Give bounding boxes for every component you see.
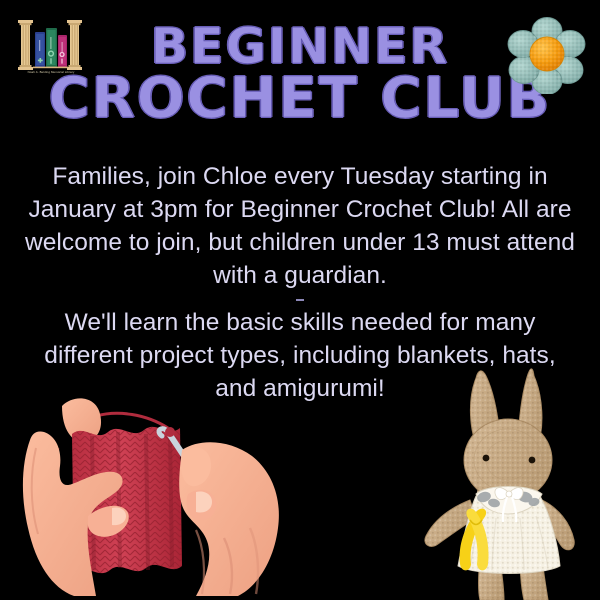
crochet-flower-graphic <box>506 16 588 94</box>
yarn-loop <box>165 427 175 437</box>
hands-crocheting-illustration <box>0 388 300 600</box>
flower-center <box>530 37 564 71</box>
description-paragraph-1: Families, join Chloe every Tuesday start… <box>24 160 576 292</box>
crochet-flower-icon <box>506 16 588 94</box>
amigurumi-bunny-graphic <box>424 364 600 600</box>
hands-crocheting-graphic <box>0 388 300 600</box>
bunny-eye-right <box>529 457 536 464</box>
right-hand <box>179 442 279 596</box>
bunny-eye-left <box>483 455 490 462</box>
yarn-strand-top <box>96 413 168 428</box>
paragraph-separator <box>24 292 576 306</box>
poster-canvas: Noah A. Belding Memorial Library BEGINNE… <box>0 0 600 600</box>
amigurumi-bunny <box>424 364 600 600</box>
separator-dash <box>296 299 304 301</box>
